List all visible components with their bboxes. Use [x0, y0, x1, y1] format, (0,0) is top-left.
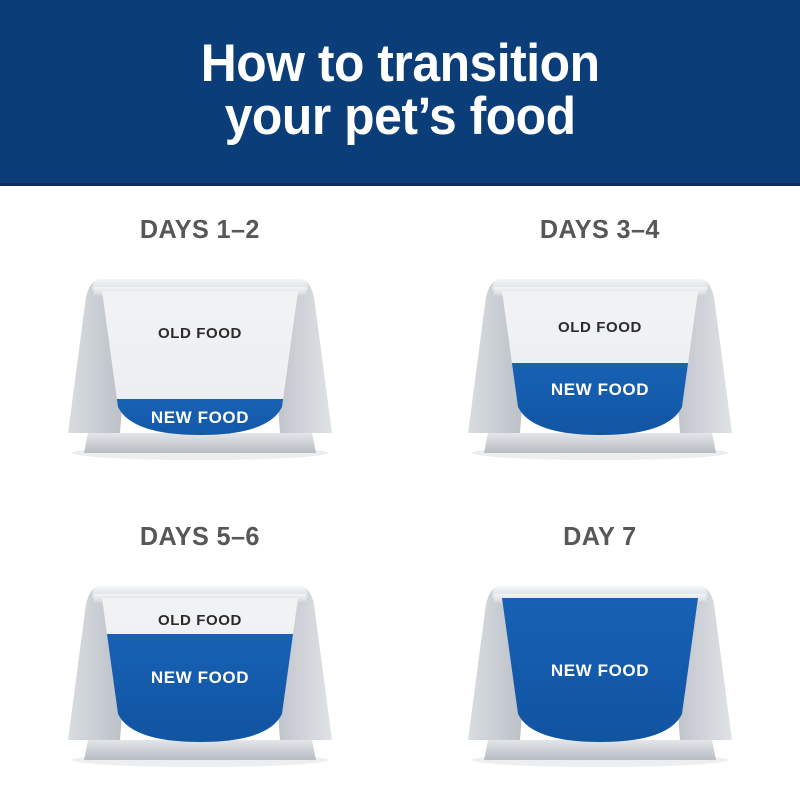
header-banner: How to transition your pet’s food	[0, 0, 800, 186]
bowl-days-5-6: OLD FOOD NEW FOOD	[50, 564, 350, 784]
step-label-day-7: DAY 7	[563, 521, 636, 552]
bowl-illustration-4	[450, 564, 750, 784]
step-day-7: DAY 7	[400, 493, 800, 800]
step-label-days-5-6: DAYS 5–6	[140, 521, 260, 552]
step-label-days-3-4: DAYS 3–4	[540, 214, 660, 245]
infographic-page: How to transition your pet’s food DAYS 1…	[0, 0, 800, 800]
bowl-illustration-1	[50, 257, 350, 477]
step-days-3-4: DAYS 3–4	[400, 186, 800, 493]
bowl-illustration-2	[450, 257, 750, 477]
bowl-days-3-4: OLD FOOD NEW FOOD	[450, 257, 750, 477]
step-days-5-6: DAYS 5–6	[0, 493, 400, 800]
bowl-illustration-3	[50, 564, 350, 784]
steps-grid: DAYS 1–2	[0, 186, 800, 800]
step-days-1-2: DAYS 1–2	[0, 186, 400, 493]
step-label-days-1-2: DAYS 1–2	[140, 214, 260, 245]
bowl-days-1-2: OLD FOOD NEW FOOD	[50, 257, 350, 477]
bowl-day-7: NEW FOOD	[450, 564, 750, 784]
page-title: How to transition your pet’s food	[201, 38, 600, 143]
